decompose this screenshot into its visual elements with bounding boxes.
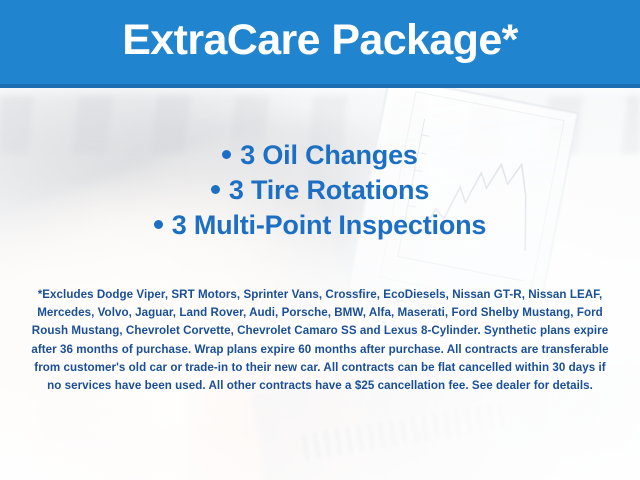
benefit-label: 3 Multi-Point Inspections (172, 210, 487, 240)
benefit-label: 3 Oil Changes (240, 140, 417, 170)
header-banner: ExtraCare Package* (0, 0, 640, 88)
list-item: 3 Tire Rotations (0, 173, 640, 208)
bullet-dot-icon (211, 185, 220, 194)
disclaimer-text: *Excludes Dodge Viper, SRT Motors, Sprin… (28, 286, 612, 395)
list-item: 3 Oil Changes (0, 138, 640, 173)
benefit-label: 3 Tire Rotations (229, 175, 429, 205)
page-title: ExtraCare Package* (122, 19, 518, 65)
extracare-package-promo-card: ExtraCare Package* 3 Oil Changes 3 Tire … (0, 0, 640, 480)
bullet-dot-icon (154, 220, 163, 229)
list-item: 3 Multi-Point Inspections (0, 208, 640, 243)
bullet-dot-icon (222, 150, 231, 159)
benefits-list: 3 Oil Changes 3 Tire Rotations 3 Multi-P… (0, 138, 640, 243)
